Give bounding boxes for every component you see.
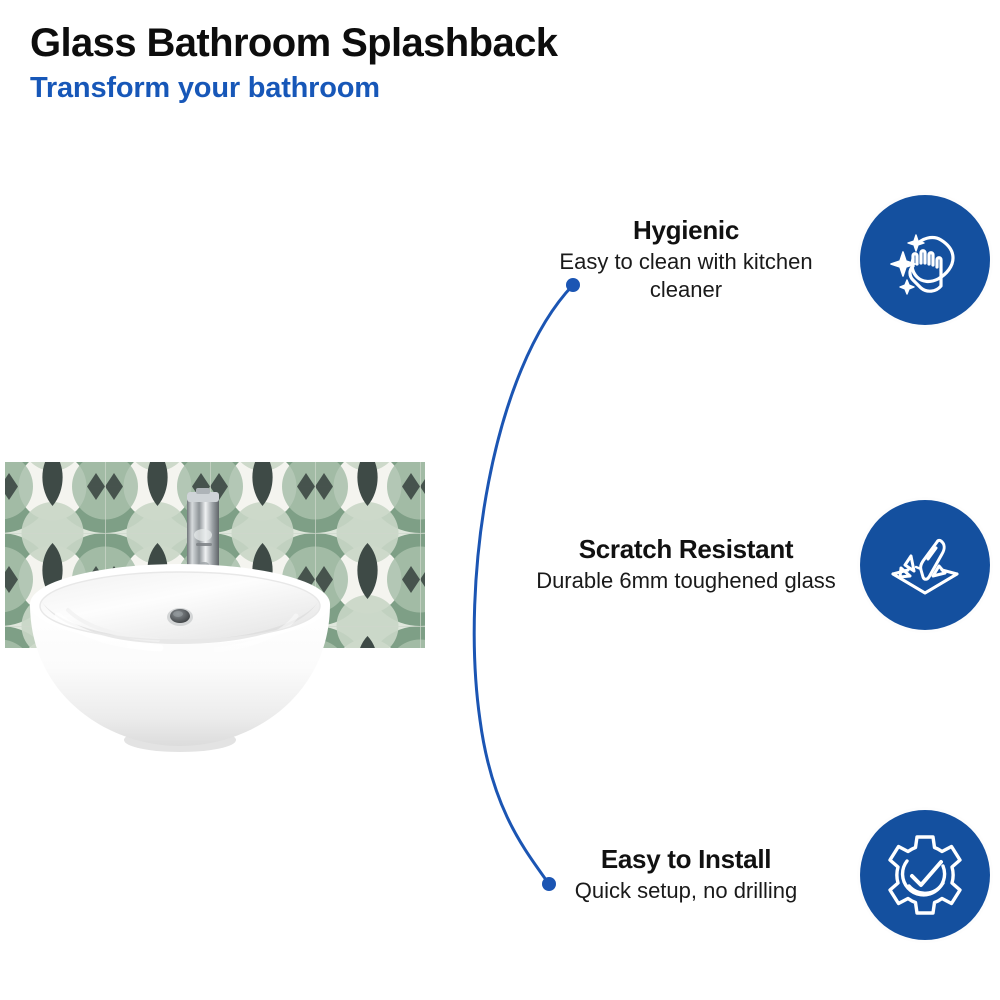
knife-scratch-surface-icon	[883, 523, 967, 607]
feature-text-block: Scratch Resistant Durable 6mm toughened …	[530, 535, 850, 595]
feature-title: Scratch Resistant	[530, 535, 842, 565]
icon-badge-scratch-resistant	[860, 500, 990, 630]
icon-badge-easy-to-install	[860, 810, 990, 940]
page-subtitle: Transform your bathroom	[30, 73, 730, 105]
feature-text-block: Hygienic Easy to clean with kitchen clea…	[530, 216, 850, 304]
header: Glass Bathroom Splashback Transform your…	[30, 22, 730, 105]
basin	[30, 564, 330, 752]
hand-wipe-sparkle-icon	[883, 218, 967, 302]
feature-title: Easy to Install	[530, 845, 842, 875]
product-image	[0, 440, 450, 770]
feature-scratch-resistant: Scratch Resistant Durable 6mm toughened …	[530, 485, 1000, 645]
feature-icon-wrap	[850, 500, 1000, 630]
gear-checkmark-icon	[881, 831, 969, 919]
feature-text-block: Easy to Install Quick setup, no drilling	[530, 845, 850, 905]
feature-description: Durable 6mm toughened glass	[530, 567, 842, 595]
feature-description: Quick setup, no drilling	[530, 877, 842, 905]
feature-icon-wrap	[850, 810, 1000, 940]
feature-description: Easy to clean with kitchen cleaner	[530, 248, 842, 304]
infographic-page: Glass Bathroom Splashback Transform your…	[0, 0, 1000, 1000]
feature-title: Hygienic	[530, 216, 842, 246]
feature-hygienic: Hygienic Easy to clean with kitchen clea…	[530, 180, 1000, 340]
overflow-hole	[167, 608, 193, 626]
icon-badge-hygienic	[860, 195, 990, 325]
page-title: Glass Bathroom Splashback	[30, 22, 730, 65]
feature-icon-wrap	[850, 195, 1000, 325]
feature-easy-to-install: Easy to Install Quick setup, no drilling	[530, 795, 1000, 955]
